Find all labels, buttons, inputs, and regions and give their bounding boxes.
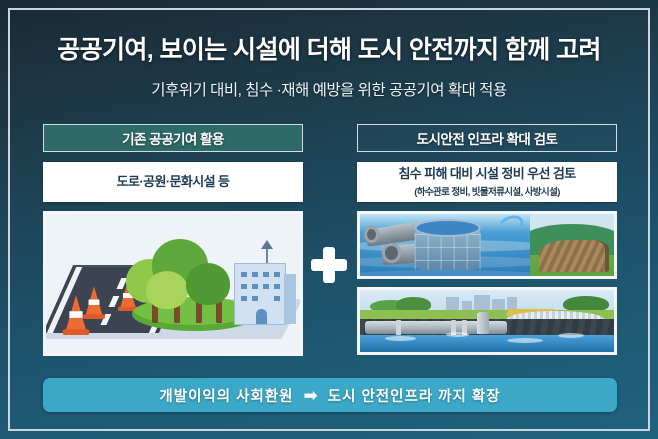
page-title: 공공기여, 보이는 시설에 더해 도시 안전까지 함께 고려 [0, 36, 658, 65]
pipe-mouth [364, 226, 379, 243]
summary-banner: 개발이익의 사회환원 ➡ 도시 안전인프라 까지 확장 [43, 378, 617, 412]
right-caption-sub: (하수관로 정비, 빗물저류시설, 사방시설) [414, 184, 560, 198]
page-subtitle: 기후위기 대비, 침수 ·재해 예방을 위한 공공기여 확대 적용 [0, 78, 658, 100]
right-illustration-panel-bottom [357, 287, 617, 355]
tree-icon [146, 271, 188, 309]
right-illustration-panel-top [357, 211, 617, 279]
content-columns: 기존 공공기여 활용 도로·공원·문화시설 등 [0, 124, 658, 366]
left-caption-box: 도로·공원·문화시설 등 [43, 162, 303, 202]
plus-icon [311, 247, 347, 283]
arrow-right-icon: ➡ [304, 387, 318, 404]
scene-road-park-building [46, 214, 300, 353]
water-background [360, 214, 530, 276]
underground-pipe-vertical [477, 312, 489, 334]
banner-left-text: 개발이익의 사회환원 [159, 385, 293, 406]
road-dash [108, 296, 119, 307]
left-section-header: 기존 공공기여 활용 [43, 124, 303, 152]
scene-underground-pipe-river [360, 290, 614, 352]
infographic-poster: 공공기여, 보이는 시설에 더해 도시 안전까지 함께 고려 기후위기 대비, … [0, 0, 658, 439]
column-urban-safety-infra: 도시안전 인프라 확대 검토 침수 피해 대비 시설 정비 우선 검토 (하수관… [357, 124, 617, 355]
rainwater-storage-tank-icon [415, 228, 481, 270]
left-caption-main: 도로·공원·문화시설 등 [117, 174, 230, 190]
antenna-icon [266, 247, 268, 263]
tree-icon [186, 263, 230, 305]
right-caption-box: 침수 피해 대비 시설 정비 우선 검토 (하수관로 정비, 빗물저류시설, 사… [357, 162, 617, 202]
title-block: 공공기여, 보이는 시설에 더해 도시 안전까지 함께 고려 기후위기 대비, … [0, 36, 658, 100]
right-caption-main: 침수 피해 대비 시설 정비 우선 검토 [398, 166, 575, 182]
pipe-mouth [382, 243, 401, 263]
building-side [284, 274, 296, 324]
left-illustration-panel [43, 211, 303, 356]
dam-body [539, 240, 609, 272]
left-section-header-label: 기존 공공기여 활용 [122, 128, 224, 148]
water-flow-arrow-icon [496, 214, 527, 238]
banner-right-text: 도시 안전인프라 까지 확장 [328, 385, 501, 406]
right-section-header-label: 도시안전 인프라 확대 검토 [417, 128, 558, 148]
column-existing-contribution: 기존 공공기여 활용 도로·공원·문화시설 등 [43, 124, 303, 356]
right-section-header: 도시안전 인프라 확대 검토 [357, 124, 617, 152]
building-door [256, 309, 267, 324]
building-icon [234, 263, 286, 325]
scene-pipes-tank-dam [360, 214, 614, 276]
erosion-control-dam-icon [530, 214, 614, 276]
